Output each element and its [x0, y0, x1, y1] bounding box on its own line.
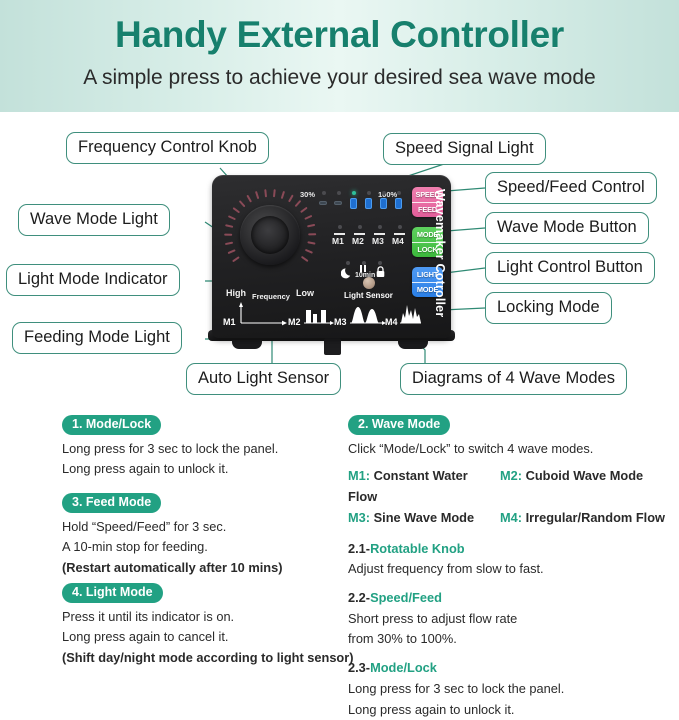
- sub-2-3-num: 2.3-: [348, 660, 370, 675]
- wave-mode-dot-m2: [358, 225, 362, 229]
- svg-text:M3: M3: [334, 317, 347, 327]
- knob-tick: [305, 249, 313, 254]
- badge-mode-lock: 1. Mode/Lock: [62, 415, 161, 435]
- wave-mode-sub-speed-feed: 2.2-Speed/Feed Short press to adjust flo…: [348, 588, 678, 650]
- device-brand-label: Wavemaker Cotroller: [433, 189, 447, 317]
- callout-frequency-control-knob[interactable]: Frequency Control Knob: [66, 132, 269, 164]
- wave-mode-dot-m1: [338, 225, 342, 229]
- wavemaker-controller-device: High Frequency Low 30% 100% M1 M2 M3 M4: [212, 170, 458, 358]
- speed-segment-lit-2: [365, 198, 372, 209]
- sub-2-3-line-2: Long press again to unlock it.: [348, 700, 678, 720]
- badge-feed-mode: 3. Feed Mode: [62, 493, 161, 513]
- lock-icon: [375, 266, 386, 278]
- instruction-mode-lock-line-2: Long press again to unlock it.: [62, 459, 352, 480]
- speed-signal-dot-3: [352, 191, 356, 195]
- wave-mode-m4-key: M4:: [500, 510, 522, 525]
- knob-tick: [232, 207, 240, 214]
- speed-signal-dot-2: [337, 191, 341, 195]
- knob-tick: [273, 189, 276, 197]
- wave-mode-m3: M3: Sine Wave Mode: [348, 508, 500, 529]
- instruction-feed-mode-note: (Restart automatically after 10 mins): [62, 558, 352, 579]
- callout-locking-mode[interactable]: Locking Mode: [485, 292, 612, 324]
- callout-speed-signal-light[interactable]: Speed Signal Light: [383, 133, 546, 165]
- speed-segment-lit-3: [380, 198, 387, 209]
- wave-mode-m2-key: M2:: [500, 468, 522, 483]
- callout-wave-mode-light[interactable]: Wave Mode Light: [18, 204, 170, 236]
- instruction-light-mode-line-2: Long press again to cancel it.: [62, 627, 362, 648]
- svg-text:M4: M4: [385, 317, 398, 327]
- sub-2-3-title: Mode/Lock: [370, 660, 437, 675]
- frequency-control-knob[interactable]: [240, 205, 300, 265]
- knob-tick: [225, 241, 233, 245]
- knob-tick: [228, 215, 236, 220]
- knob-tick: [232, 256, 240, 263]
- wave-mode-label-m2: M2: [352, 236, 364, 246]
- device-foot-left: [232, 340, 262, 349]
- knob-tick: [224, 233, 232, 235]
- wave-mode-diagrams: M1 M2 M3 M4: [222, 299, 422, 329]
- knob-inner-dial: [251, 216, 289, 254]
- percent-min-label: 30%: [300, 190, 315, 199]
- wave-mode-label-m1: M1: [332, 236, 344, 246]
- speed-segment-dim-1: [319, 201, 327, 205]
- speed-signal-dot-1: [322, 191, 326, 195]
- pause-icon: [358, 265, 368, 272]
- wave-mode-row-2: M3: Sine Wave Mode M4: Irregular/Random …: [348, 508, 678, 529]
- sub-2-3-line-1: Long press for 3 sec to lock the panel.: [348, 679, 678, 700]
- sub-2-1-line-1: Adjust frequency from slow to fast.: [348, 559, 678, 580]
- wave-mode-m2-desc: Cuboid Wave Mode: [522, 468, 643, 483]
- instruction-feed-mode-line-2: A 10-min stop for feeding.: [62, 537, 352, 558]
- device-front-panel: High Frequency Low 30% 100% M1 M2 M3 M4: [212, 175, 451, 338]
- svg-text:M2: M2: [288, 317, 301, 327]
- moon-icon: [341, 267, 353, 279]
- knob-tick: [300, 207, 308, 214]
- badge-light-mode: 4. Light Mode: [62, 583, 163, 603]
- instruction-light-mode-line-1: Press it until its indicator is on.: [62, 607, 362, 628]
- knob-scale-low: Low: [296, 288, 314, 298]
- callout-diagrams-of-4-wave-modes[interactable]: Diagrams of 4 Wave Modes: [400, 363, 627, 395]
- sub-2-2-num: 2.2-: [348, 590, 370, 605]
- speed-signal-dot-6: [397, 191, 401, 195]
- callout-speed-feed-control[interactable]: Speed/Feed Control: [485, 172, 657, 204]
- instruction-mode-lock-line-1: Long press for 3 sec to lock the panel.: [62, 439, 352, 460]
- callout-light-mode-indicator[interactable]: Light Mode Indicator: [6, 264, 180, 296]
- wave-mode-label-m4: M4: [392, 236, 404, 246]
- wave-mode-sub-rotatable-knob: 2.1-Rotatable Knob Adjust frequency from…: [348, 539, 678, 580]
- wave-mode-m3-key: M3:: [348, 510, 370, 525]
- wave-mode-label-m3: M3: [372, 236, 384, 246]
- speed-signal-dot-5: [382, 191, 386, 195]
- wave-mode-m4: M4: Irregular/Random Flow: [500, 508, 665, 529]
- speed-segment-lit-1: [350, 198, 357, 209]
- wave-mode-m3-desc: Sine Wave Mode: [370, 510, 474, 525]
- instruction-feed-mode: 3. Feed Mode Hold “Speed/Feed” for 3 sec…: [62, 492, 352, 579]
- speed-segment-dim-2: [334, 201, 342, 205]
- header-banner: Handy External Controller A simple press…: [0, 0, 679, 112]
- sub-2-1-title: Rotatable Knob: [370, 541, 465, 556]
- night-mode-status-dot: [346, 261, 350, 265]
- light-sensor: [363, 277, 375, 289]
- wave-mode-tick-m2: [354, 233, 365, 235]
- instruction-wave-mode: 2. Wave Mode Click “Mode/Lock” to switch…: [348, 414, 678, 720]
- wave-mode-m1-key: M1:: [348, 468, 370, 483]
- sub-2-2-line-2: from 30% to 100%.: [348, 629, 678, 650]
- knob-tick: [239, 200, 246, 208]
- knob-scale-high: High: [226, 288, 246, 298]
- instruction-wave-mode-intro: Click “Mode/Lock” to switch 4 wave modes…: [348, 439, 678, 460]
- svg-text:M1: M1: [223, 317, 236, 327]
- instruction-light-mode: 4. Light Mode Press it until its indicat…: [62, 582, 362, 669]
- frequency-knob-assembly[interactable]: [222, 187, 318, 283]
- knob-tick: [225, 224, 233, 228]
- callout-light-control-button[interactable]: Light Control Button: [485, 252, 655, 284]
- knob-tick: [304, 215, 312, 220]
- knob-tick: [264, 189, 267, 197]
- knob-tick: [246, 194, 252, 202]
- lock-status-dot: [378, 261, 382, 265]
- knob-tick: [255, 191, 260, 199]
- knob-tick: [308, 233, 316, 235]
- page-subtitle: A simple press to achieve your desired s…: [0, 66, 679, 90]
- knob-tick: [307, 224, 315, 228]
- badge-wave-mode: 2. Wave Mode: [348, 415, 450, 435]
- wave-mode-tick-m3: [374, 233, 385, 235]
- sub-2-2-title: Speed/Feed: [370, 590, 442, 605]
- knob-tick: [301, 256, 309, 263]
- knob-tick: [288, 194, 294, 202]
- knob-tick: [281, 191, 286, 199]
- wave-mode-m1: M1: Constant Water Flow: [348, 466, 500, 507]
- wave-mode-tick-m4: [394, 233, 405, 235]
- device-foot-right: [398, 340, 428, 349]
- callout-wave-mode-button[interactable]: Wave Mode Button: [485, 212, 649, 244]
- speed-signal-dot-4: [367, 191, 371, 195]
- knob-tick: [295, 200, 302, 208]
- speed-segment-lit-4: [395, 198, 402, 209]
- wave-mode-m4-desc: Irregular/Random Flow: [522, 510, 665, 525]
- wave-mode-sub-mode-lock: 2.3-Mode/Lock Long press for 3 sec to lo…: [348, 658, 678, 720]
- instruction-mode-lock: 1. Mode/Lock Long press for 3 sec to loc…: [62, 414, 352, 480]
- sub-2-1-num: 2.1-: [348, 541, 370, 556]
- wave-mode-m2: M2: Cuboid Wave Mode: [500, 466, 643, 507]
- instruction-light-mode-note: (Shift day/night mode according to light…: [62, 648, 362, 669]
- sub-2-2-line-1: Short press to adjust flow rate: [348, 609, 678, 630]
- power-plug: [324, 338, 341, 355]
- page-title: Handy External Controller: [0, 14, 679, 56]
- wave-mode-dot-m3: [378, 225, 382, 229]
- wave-mode-dot-m4: [398, 225, 402, 229]
- wave-mode-row-1: M1: Constant Water Flow M2: Cuboid Wave …: [348, 466, 678, 507]
- knob-tick: [227, 249, 235, 254]
- callout-feeding-mode-light[interactable]: Feeding Mode Light: [12, 322, 182, 354]
- callout-auto-light-sensor[interactable]: Auto Light Sensor: [186, 363, 341, 395]
- wave-mode-tick-m1: [334, 233, 345, 235]
- instruction-feed-mode-line-1: Hold “Speed/Feed” for 3 sec.: [62, 517, 352, 538]
- knob-tick: [307, 241, 315, 245]
